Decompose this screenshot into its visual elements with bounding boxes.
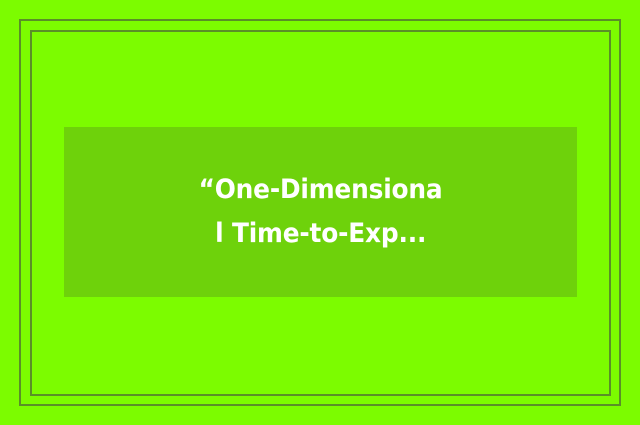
title-line-2: l Time-to-Exp... [215, 212, 426, 256]
title-panel: “One-Dimensiona l Time-to-Exp... [64, 127, 577, 297]
title-line-1: “One-Dimensiona [199, 168, 443, 212]
card-canvas: “One-Dimensiona l Time-to-Exp... [0, 0, 640, 425]
